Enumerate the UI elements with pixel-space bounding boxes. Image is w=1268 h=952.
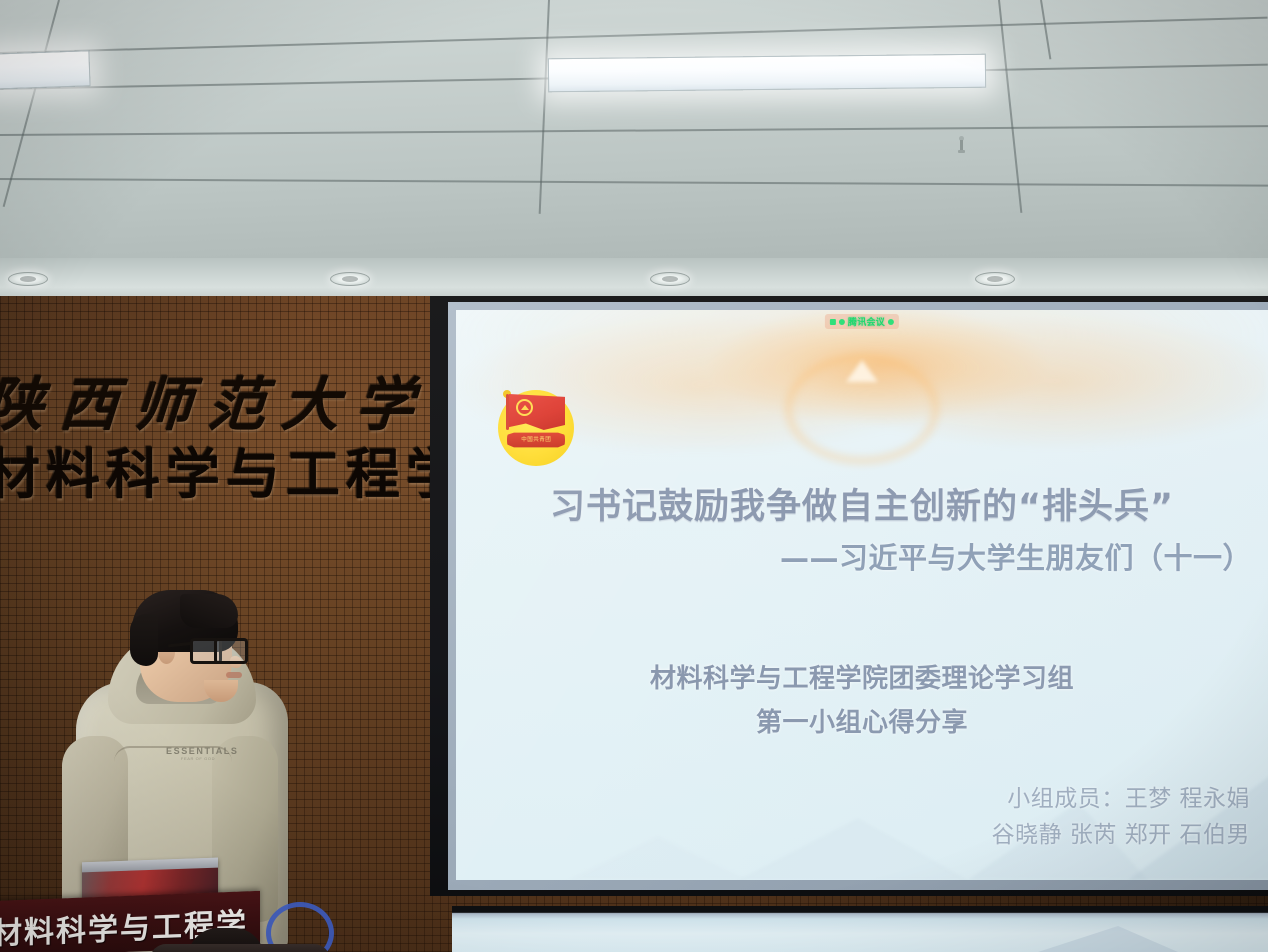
hoodie-brand-label: ESSENTIALS bbox=[166, 746, 239, 756]
youth-league-emblem-icon: 中国共青团 bbox=[494, 382, 578, 466]
person-mouth bbox=[226, 672, 242, 678]
ceiling-grid-line bbox=[998, 0, 1022, 213]
foreground-person-shoulders bbox=[150, 944, 330, 952]
meeting-overlay-label: 腾讯会议 bbox=[848, 315, 885, 328]
ceiling-panel-light bbox=[548, 54, 986, 93]
lower-screen-mountain bbox=[1038, 926, 1178, 952]
slide-mountain-silhouette bbox=[738, 818, 968, 880]
recessed-downlight-icon bbox=[8, 272, 48, 286]
recessed-downlight-icon bbox=[975, 272, 1015, 286]
slide-mountain-silhouette bbox=[568, 836, 748, 880]
photo-scene: 陕西师范大学 材料科学与工程学院 腾讯会议 中国共青团 习书记鼓励我争做自主创新… bbox=[0, 0, 1268, 952]
projection-screen-surface[interactable]: 腾讯会议 中国共青团 习书记鼓励我争做自主创新的“排头兵” ——习近平与大学生朋… bbox=[456, 310, 1268, 880]
recessed-downlight-icon bbox=[650, 272, 690, 286]
recessed-downlight-icon bbox=[330, 272, 370, 286]
ceiling-panel-light bbox=[0, 50, 91, 90]
person-hair-fringe bbox=[180, 594, 238, 628]
status-dot-icon bbox=[839, 319, 845, 325]
slide-organization-line-1: 材料科学与工程学院团委理论学习组 bbox=[456, 658, 1268, 695]
slide-background-star-icon bbox=[846, 360, 878, 382]
ceiling-tile-grid bbox=[0, 0, 1268, 300]
ceiling-grid-line bbox=[0, 125, 1268, 136]
slide-organization-line-2: 第一小组心得分享 bbox=[456, 702, 1268, 739]
slide-members-line-2: 谷晓静 张芮 郑开 石伯男 bbox=[992, 818, 1250, 854]
signal-bars-icon bbox=[830, 319, 836, 325]
ceiling-grid-line bbox=[0, 17, 1268, 54]
slide-members-line-1: 小组成员：王梦 程永娟 bbox=[992, 782, 1250, 818]
hoodie-brand-print: ESSENTIALS FEAR OF GOD bbox=[166, 746, 230, 761]
ceiling-grid-line bbox=[1040, 0, 1051, 59]
mic-icon bbox=[888, 319, 894, 325]
emblem-banner-text: 中国共青团 bbox=[521, 437, 551, 443]
eyeglasses-icon bbox=[190, 638, 244, 660]
ceiling-grid-line bbox=[0, 178, 1268, 187]
ceiling-grid-line bbox=[3, 0, 60, 207]
person-hair-side bbox=[130, 614, 158, 666]
tencent-meeting-overlay[interactable]: 腾讯会议 bbox=[825, 314, 899, 329]
sprinkler-head-icon bbox=[958, 140, 965, 156]
hoodie-brand-sublabel: FEAR OF GOD bbox=[166, 756, 230, 761]
ceiling bbox=[0, 0, 1268, 300]
slide-members: 小组成员：王梦 程永娟 谷晓静 张芮 郑开 石伯男 bbox=[992, 782, 1250, 853]
slide-subtitle: ——习近平与大学生朋友们（十一） bbox=[780, 535, 1252, 577]
lower-screen-edge bbox=[452, 906, 1268, 952]
slide-title: 习书记鼓励我争做自主创新的“排头兵” bbox=[456, 478, 1268, 529]
